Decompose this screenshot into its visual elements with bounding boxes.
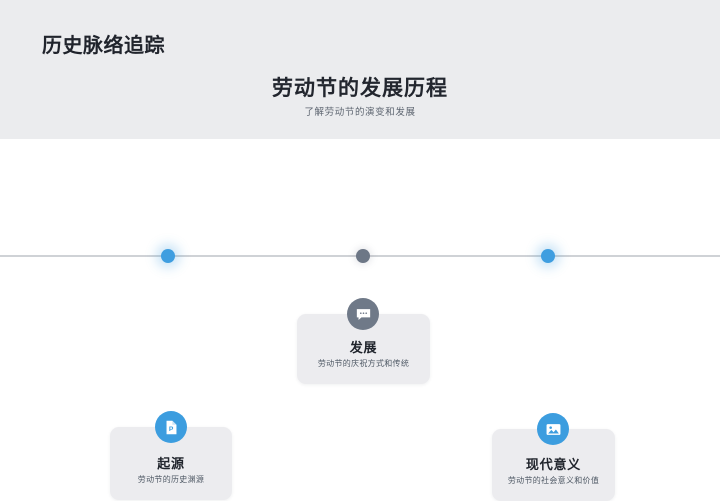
timeline-card-description: 劳动节的庆祝方式和传统 [297,358,430,369]
section-label: 历史脉络追踪 [42,29,165,58]
comment-bubble-icon [347,298,379,330]
slide-canvas: 历史脉络追踪 劳动节的发展历程 了解劳动节的演变和发展 起源 劳动节的历史渊源 … [0,0,720,404]
page-subtitle: 了解劳动节的演变和发展 [0,104,720,118]
timeline-node-origin[interactable] [161,249,175,263]
image-icon [537,413,569,445]
timeline-card-description: 劳动节的历史渊源 [110,474,232,485]
timeline-node-modern-meaning[interactable] [541,249,555,263]
page-title: 劳动节的发展历程 [0,72,720,102]
header-band [0,0,720,139]
timeline-card-title: 现代意义 [492,454,615,473]
timeline-card-title: 发展 [297,337,430,356]
timeline-node-development[interactable] [356,249,370,263]
presentation-file-icon: P [155,411,187,443]
timeline: 起源 劳动节的历史渊源 发展 劳动节的庆祝方式和传统 现代意义 劳动节的社会意义… [0,139,720,404]
svg-text:P: P [168,426,173,433]
timeline-card-title: 起源 [110,453,232,472]
timeline-card-description: 劳动节的社会意义和价值 [492,475,615,486]
